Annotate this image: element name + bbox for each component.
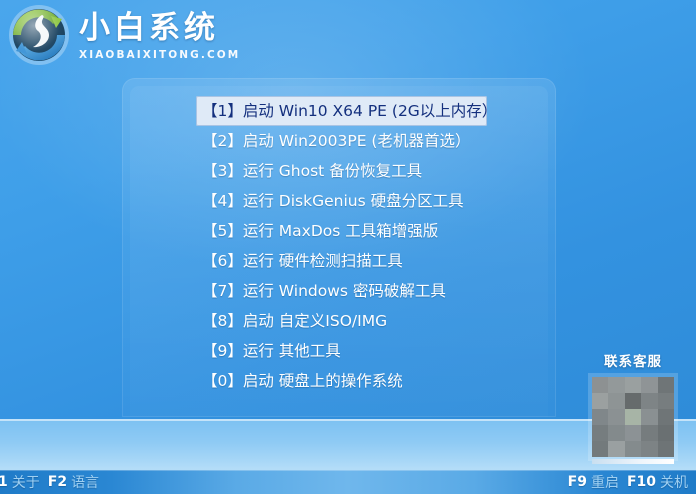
qr-cell [641,441,657,457]
key-f1-label[interactable]: 关于 [12,472,40,492]
key-f10[interactable]: F10 [627,474,656,490]
boot-menu-item-0[interactable]: 【0】启动 硬盘上的操作系统 [196,366,496,396]
qr-cell [592,377,608,393]
key-f2-label[interactable]: 语言 [71,472,99,492]
key-f10-label[interactable]: 关机 [660,472,688,492]
qr-cell [608,441,624,457]
status-bar-left: 1 关于 F2 语言 [0,470,103,494]
boot-menu-item-9[interactable]: 【9】运行 其他工具 [196,336,496,366]
boot-menu-screen: 小白系统 XIAOBAIXITONG.COM 【1】启动 Win10 X64 P… [0,0,696,494]
qr-code-base [592,459,674,464]
qr-cell [641,377,657,393]
boot-menu-list: 【1】启动 Win10 X64 PE (2G以上内存） 【2】启动 Win200… [196,96,496,396]
qr-cell [625,441,641,457]
key-f9[interactable]: F9 [568,474,587,490]
qr-cell [592,441,608,457]
qr-cell [625,393,641,409]
qr-cell [658,441,674,457]
qr-cell [625,409,641,425]
qr-cell [658,425,674,441]
boot-menu-item-6[interactable]: 【6】运行 硬件检测扫描工具 [196,246,496,276]
key-f2[interactable]: F2 [48,474,67,490]
qr-cell [641,393,657,409]
key-f1[interactable]: 1 [0,474,8,490]
status-bar-right: F9 重启 F10 关机 [564,470,692,494]
qr-cell [625,377,641,393]
brand-name-en: XIAOBAIXITONG.COM [79,50,240,61]
brand-logo: 小白系统 XIAOBAIXITONG.COM [6,2,240,68]
boot-menu-item-8[interactable]: 【8】启动 自定义ISO/IMG [196,306,496,336]
boot-menu-item-2[interactable]: 【2】启动 Win2003PE (老机器首选） [196,126,496,156]
status-bar: 1 关于 F2 语言 F9 重启 F10 关机 [0,470,696,494]
boot-menu-item-3[interactable]: 【3】运行 Ghost 备份恢复工具 [196,156,496,186]
qr-cell [592,425,608,441]
boot-menu-item-4[interactable]: 【4】运行 DiskGenius 硬盘分区工具 [196,186,496,216]
boot-menu-item-5[interactable]: 【5】运行 MaxDos 工具箱增强版 [196,216,496,246]
contact-support: 联系客服 [581,350,685,464]
qr-cell [641,409,657,425]
key-f9-label[interactable]: 重启 [591,472,619,492]
qr-cell [608,409,624,425]
brand-name-cn: 小白系统 [79,13,240,44]
qr-cell [658,377,674,393]
boot-menu-item-1[interactable]: 【1】启动 Win10 X64 PE (2G以上内存） [196,96,487,126]
qr-cell [608,393,624,409]
qr-cell [658,393,674,409]
qr-cell [608,425,624,441]
qr-cell [608,377,624,393]
qr-cell [641,425,657,441]
qr-cell [658,409,674,425]
qr-cell [592,393,608,409]
qr-cell [592,409,608,425]
qr-cell [625,425,641,441]
recycle-globe-logo-icon [6,2,72,68]
qr-code-icon [592,377,674,457]
contact-support-label: 联系客服 [581,350,685,370]
boot-menu-item-7[interactable]: 【7】运行 Windows 密码破解工具 [196,276,496,306]
